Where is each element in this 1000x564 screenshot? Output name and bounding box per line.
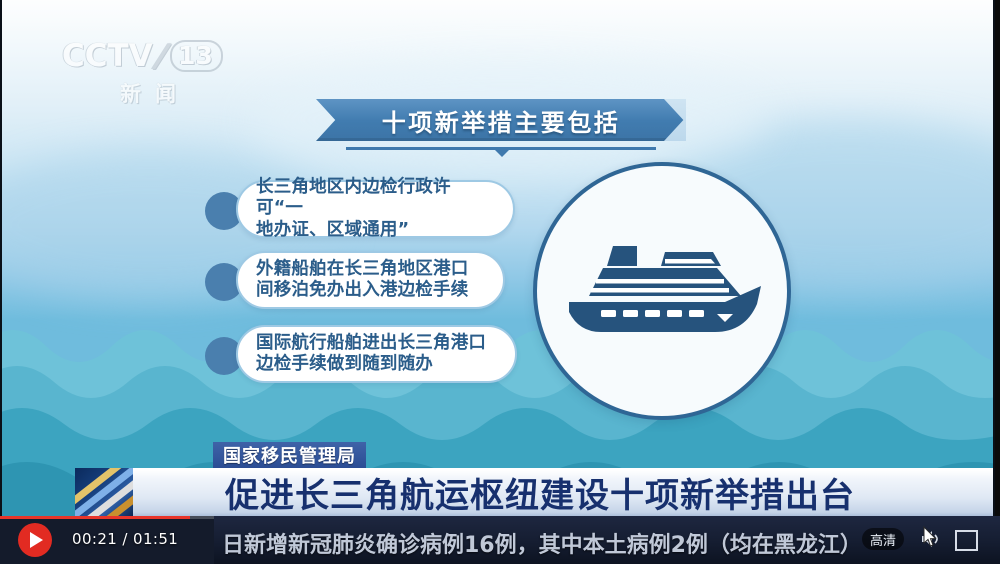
logo-channel-number: 13: [170, 40, 223, 72]
headline-decoration: [75, 468, 133, 516]
cruise-ship-icon: [565, 228, 761, 348]
headline-text: 促进长三角航运枢纽建设十项新举措出台: [225, 468, 855, 516]
time-display: 00:21 / 01:51: [72, 530, 178, 548]
quality-label: 高清: [870, 530, 896, 549]
lower-third-banner: 国家移民管理局 促进长三角航运枢纽建设十项新举措出台: [0, 442, 995, 516]
fullscreen-icon[interactable]: [955, 530, 978, 551]
ship-illustration-circle: [533, 162, 791, 420]
agency-label: 国家移民管理局: [223, 442, 356, 468]
play-icon: [30, 532, 43, 548]
ribbon-caret-icon: [494, 149, 510, 157]
logo-slash: /: [151, 41, 172, 72]
logo-subtitle: 新闻: [62, 78, 234, 108]
ribbon-banner: 十项新举措主要包括: [316, 99, 686, 141]
video-content[interactable]: CCTV / 13 新闻 十项新举措主要包括: [0, 0, 995, 516]
bullet-text: 外籍船舶在长三角地区港口 间移泊免办出入港边检手续: [256, 259, 468, 302]
ticker-text: 日新增新冠肺炎确诊病例16例，其中本土病例2例（均在黑龙江）: [222, 527, 862, 559]
play-button[interactable]: [18, 523, 52, 557]
letterbox-edge-right: [993, 0, 995, 516]
bullet-bubble: 外籍船舶在长三角地区港口 间移泊免办出入港边检手续: [236, 251, 505, 309]
logo-cctv-text: CCTV: [62, 41, 153, 72]
channel-logo-wordmark: CCTV / 13: [62, 40, 234, 72]
list-item: 国际航行船舶进出长三角港口 边检手续做到随到随办: [205, 325, 517, 385]
list-item: 外籍船舶在长三角地区港口 间移泊免办出入港边检手续: [205, 251, 505, 311]
bullet-text: 长三角地区内边检行政许可“一 地办证、区域通用”: [256, 177, 497, 241]
list-item: 长三角地区内边检行政许可“一 地办证、区域通用”: [205, 180, 515, 240]
bullet-bubble: 长三角地区内边检行政许可“一 地办证、区域通用”: [236, 180, 515, 238]
video-player-screen: CCTV / 13 新闻 十项新举措主要包括: [0, 0, 1000, 564]
bullet-text: 国际航行船舶进出长三角港口 边检手续做到随到随办: [256, 333, 486, 376]
bullet-bubble: 国际航行船舶进出长三角港口 边检手续做到随到随办: [236, 325, 517, 383]
agency-tab: 国家移民管理局: [213, 442, 366, 468]
cctv-13-logo: CCTV / 13 新闻: [62, 40, 234, 102]
mouse-cursor: [923, 526, 937, 548]
letterbox-edge-left: [0, 0, 2, 516]
ribbon-title: 十项新举措主要包括: [316, 99, 686, 141]
quality-badge[interactable]: 高清: [862, 528, 904, 550]
progress-fill: [0, 516, 190, 519]
